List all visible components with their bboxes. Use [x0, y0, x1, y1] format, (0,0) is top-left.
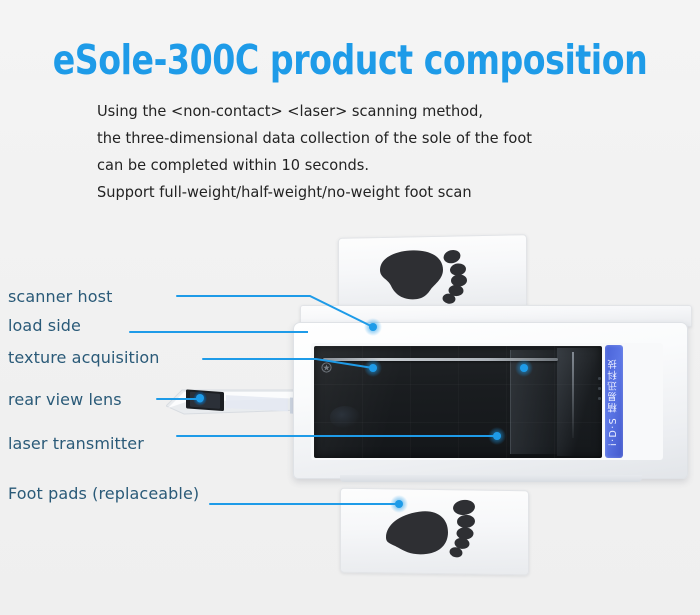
description-line-2: the three-dimensional data collection of…	[97, 125, 644, 152]
callout-label-rear-view-lens: rear view lens	[8, 390, 122, 409]
laser-rail	[323, 358, 558, 361]
callout-label-foot-pads: Foot pads (replaceable)	[8, 484, 199, 503]
page-title: eSole-300C product composition	[35, 36, 665, 84]
warning-emblem-icon	[321, 362, 332, 373]
brand-badge-text: i·D·S 精易迅科技	[607, 358, 621, 446]
scanner-glass-window	[314, 346, 602, 458]
foot-pad-bottom	[340, 488, 529, 576]
status-led-1	[598, 377, 601, 380]
callout-label-texture-acquisition: texture acquisition	[8, 348, 160, 367]
status-led-2	[598, 387, 601, 390]
callout-label-scanner-host: scanner host	[8, 287, 112, 306]
scanner-host-device: i·D·S 精易迅科技	[293, 322, 688, 479]
footprint-icon	[341, 489, 528, 575]
description-line-3: can be completed within 10 seconds.	[97, 152, 644, 179]
glass-highlight	[572, 352, 574, 438]
description-line-1: Using the <non-contact> <laser> scanning…	[97, 98, 644, 125]
rear-view-lens-assembly	[166, 380, 301, 418]
description-line-4: Support full-weight/half-weight/no-weigh…	[97, 179, 644, 206]
footprint-icon	[339, 235, 526, 311]
brand-badge: i·D·S 精易迅科技	[605, 345, 623, 458]
callout-label-load-side: load side	[8, 316, 81, 335]
internal-panel-left	[510, 350, 557, 454]
product-description: Using the <non-contact> <laser> scanning…	[97, 98, 644, 206]
foot-pad-top	[338, 234, 527, 312]
callout-label-laser-transmitter: laser transmitter	[8, 434, 144, 453]
status-led-3	[598, 397, 601, 400]
internal-panel-right	[557, 348, 601, 456]
poster-canvas: eSole-300C product composition Using the…	[0, 0, 700, 615]
device-base-lip	[340, 475, 642, 482]
glass-reflection	[330, 406, 360, 428]
